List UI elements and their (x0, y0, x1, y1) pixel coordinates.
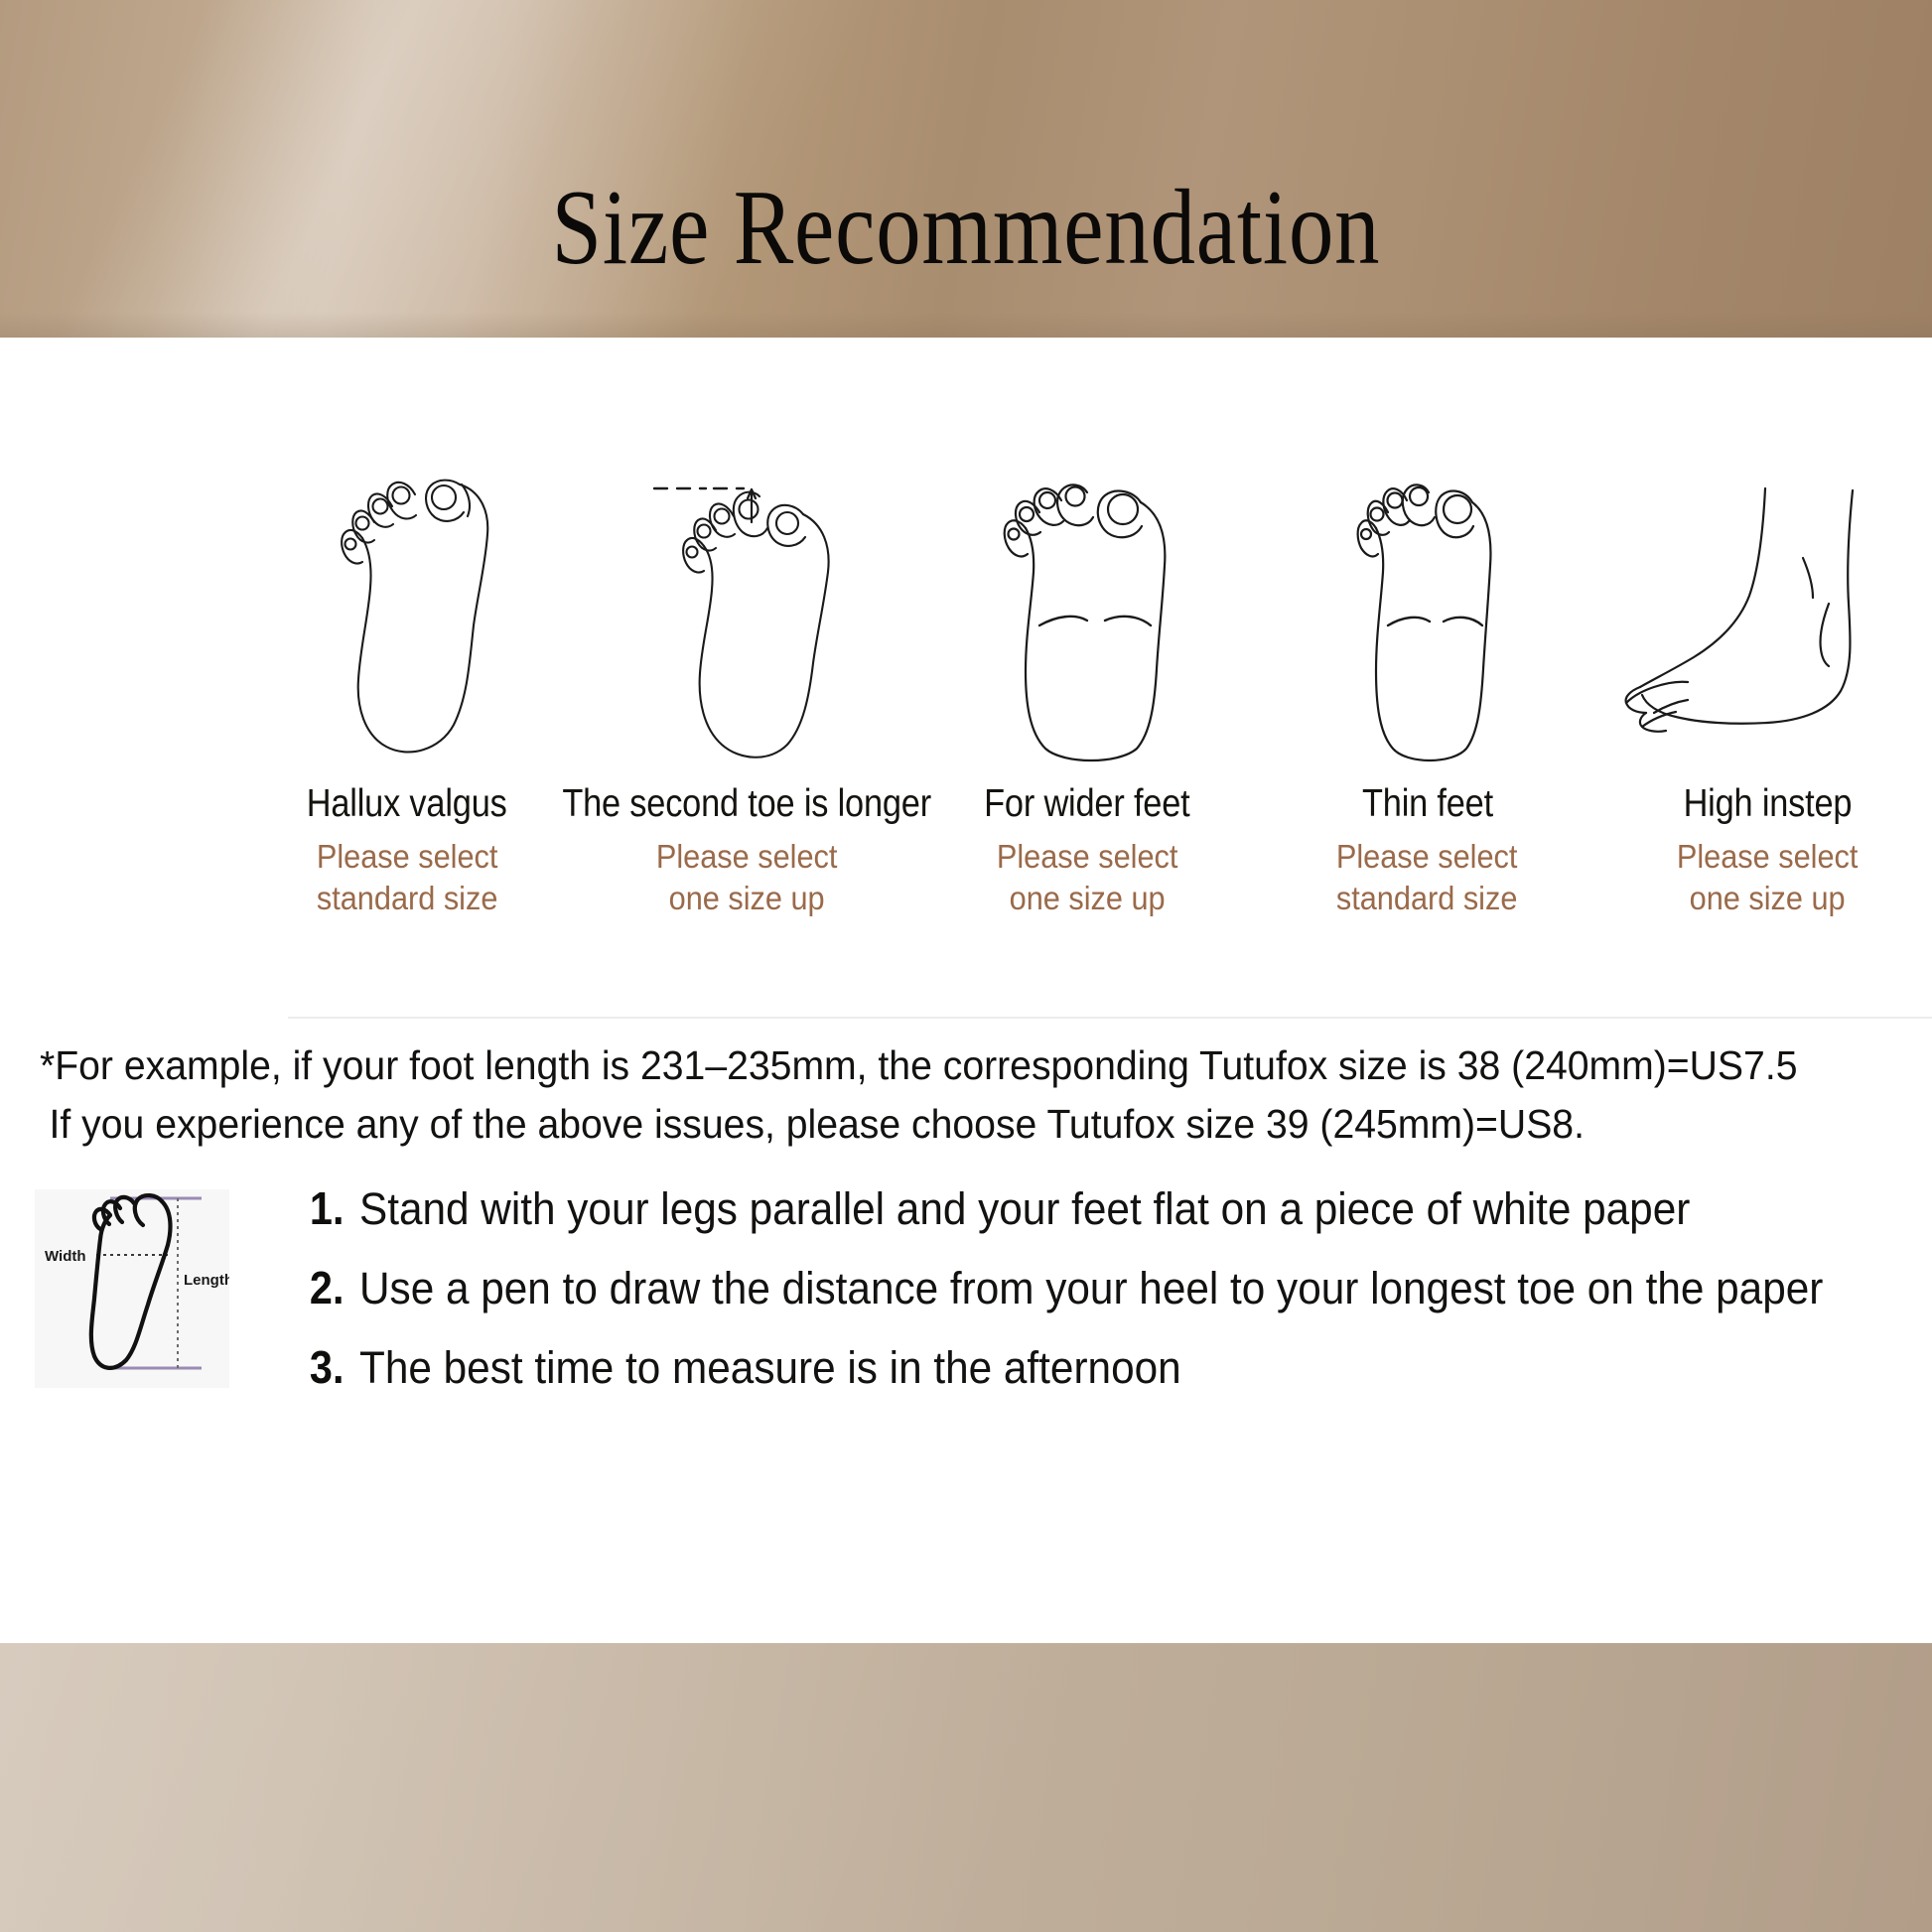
card-advice-line1: Please select (1677, 838, 1859, 875)
footprint-second-toe-longer-icon (648, 467, 847, 764)
card-title: Thin feet (1362, 782, 1493, 826)
example-note-line1: *For example, if your foot length is 231… (40, 1036, 1813, 1095)
foot-measurement-diagram-icon: Width Length (35, 1189, 229, 1388)
card-advice-line1: Please select (317, 838, 498, 875)
card-thin-feet: Thin feet Please select standard size (1269, 467, 1587, 919)
card-advice-line1: Please select (997, 838, 1178, 875)
step-item: 1. Stand with your legs parallel and you… (308, 1181, 1916, 1235)
footprint-narrow-sole-icon (1343, 467, 1512, 764)
section-divider (288, 1017, 1932, 1019)
step-item: 3. The best time to measure is in the af… (308, 1340, 1916, 1394)
example-note-line2: If you experience any of the above issue… (50, 1095, 1813, 1154)
card-advice: Please select standard size (1336, 836, 1518, 919)
width-label: Width (45, 1248, 86, 1265)
card-title: The second toe is longer (563, 782, 932, 826)
card-advice: Please select standard size (317, 836, 498, 919)
card-advice-line2: standard size (317, 880, 498, 916)
step-text: Use a pen to draw the distance from your… (359, 1263, 1823, 1314)
footprint-wide-sole-icon (988, 467, 1186, 764)
foot-side-profile-icon (1618, 467, 1916, 764)
card-title: For wider feet (984, 782, 1189, 826)
card-hallux-valgus: Hallux valgus Please select standard siz… (248, 467, 566, 919)
measurement-steps: 1. Stand with your legs parallel and you… (308, 1181, 1916, 1420)
card-advice-line1: Please select (1336, 838, 1518, 875)
card-wider-feet: For wider feet Please select one size up (928, 467, 1246, 919)
card-high-instep: High instep Please select one size up (1608, 467, 1926, 919)
step-text: The best time to measure is in the after… (359, 1342, 1181, 1394)
card-advice-line1: Please select (656, 838, 838, 875)
card-advice-line2: one size up (1690, 880, 1846, 916)
bottom-decorative-band (0, 1643, 1932, 1932)
foot-condition-cards: Hallux valgus Please select standard siz… (248, 467, 1926, 919)
step-item: 2. Use a pen to draw the distance from y… (308, 1261, 1916, 1314)
card-advice-line2: one size up (669, 880, 825, 916)
card-second-toe-longer: The second toe is longer Please select o… (589, 467, 906, 919)
step-number: 3. (310, 1340, 345, 1394)
footprint-left-sole-icon (313, 467, 501, 764)
card-title: Hallux valgus (307, 782, 507, 826)
page-title: Size Recommendation (155, 175, 1778, 282)
length-label: Length (184, 1272, 229, 1289)
card-advice-line2: one size up (1010, 880, 1166, 916)
card-advice: Please select one size up (656, 836, 838, 919)
step-number: 1. (310, 1181, 345, 1235)
step-text: Stand with your legs parallel and your f… (359, 1183, 1690, 1235)
card-advice-line2: standard size (1336, 880, 1518, 916)
card-advice: Please select one size up (1677, 836, 1859, 919)
example-note: *For example, if your foot length is 231… (40, 1036, 1813, 1155)
step-number: 2. (310, 1261, 345, 1314)
card-title: High instep (1683, 782, 1852, 826)
card-advice: Please select one size up (997, 836, 1178, 919)
